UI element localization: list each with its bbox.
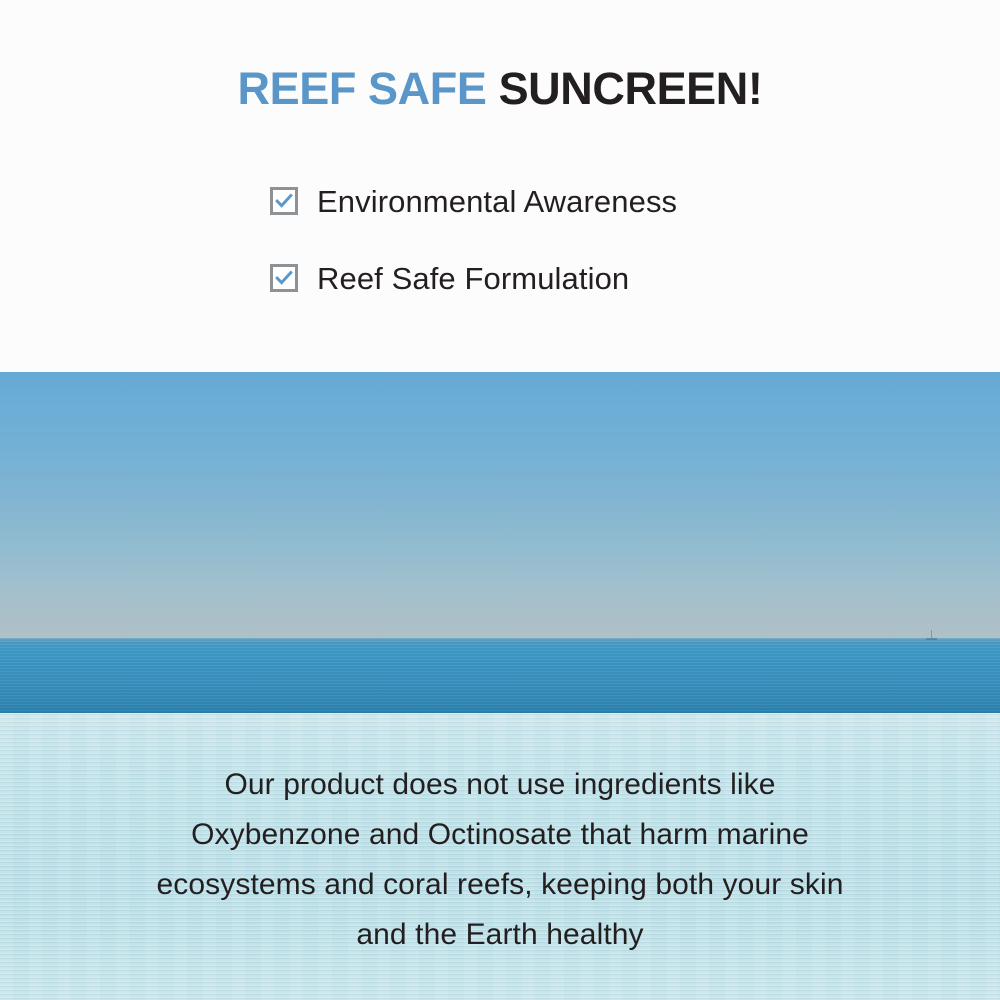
checklist-item-label: Reef Safe Formulation xyxy=(317,263,629,294)
description-line: Our product does not use ingredients lik… xyxy=(0,760,1000,810)
sailboat-silhouette-icon xyxy=(924,630,940,642)
page-title-rest: SUNCREEN! xyxy=(499,63,763,114)
page-title: REEF SAFE SUNCREEN! xyxy=(0,63,1000,115)
header-panel: REEF SAFE SUNCREEN! Environmental Awaren… xyxy=(0,0,1000,372)
checkbox-environmental-awareness[interactable] xyxy=(270,187,298,215)
ocean-wave-texture xyxy=(0,638,1000,713)
ocean-region xyxy=(0,638,1000,713)
checkbox-reef-safe-formulation[interactable] xyxy=(270,264,298,292)
checkmark-icon xyxy=(274,191,294,211)
description-line: and the Earth healthy xyxy=(0,910,1000,960)
page-title-highlight: REEF SAFE xyxy=(238,63,487,114)
checklist-item-environmental-awareness[interactable]: Environmental Awareness xyxy=(0,186,1000,216)
product-description: Our product does not use ingredients lik… xyxy=(0,760,1000,960)
sailboat-hull xyxy=(926,638,937,640)
sky-region xyxy=(0,372,1000,638)
checklist-item-reef-safe-formulation[interactable]: Reef Safe Formulation xyxy=(0,263,1000,293)
checkmark-icon xyxy=(274,268,294,288)
page-title-space xyxy=(486,63,498,114)
description-line: Oxybenzone and Octinosate that harm mari… xyxy=(0,810,1000,860)
reef-safe-suncreen-infographic: REEF SAFE SUNCREEN! Environmental Awaren… xyxy=(0,0,1000,1000)
description-line: ecosystems and coral reefs, keeping both… xyxy=(0,860,1000,910)
feature-checklist: Environmental Awareness Reef Safe Formul… xyxy=(0,186,1000,293)
checklist-item-label: Environmental Awareness xyxy=(317,186,677,217)
